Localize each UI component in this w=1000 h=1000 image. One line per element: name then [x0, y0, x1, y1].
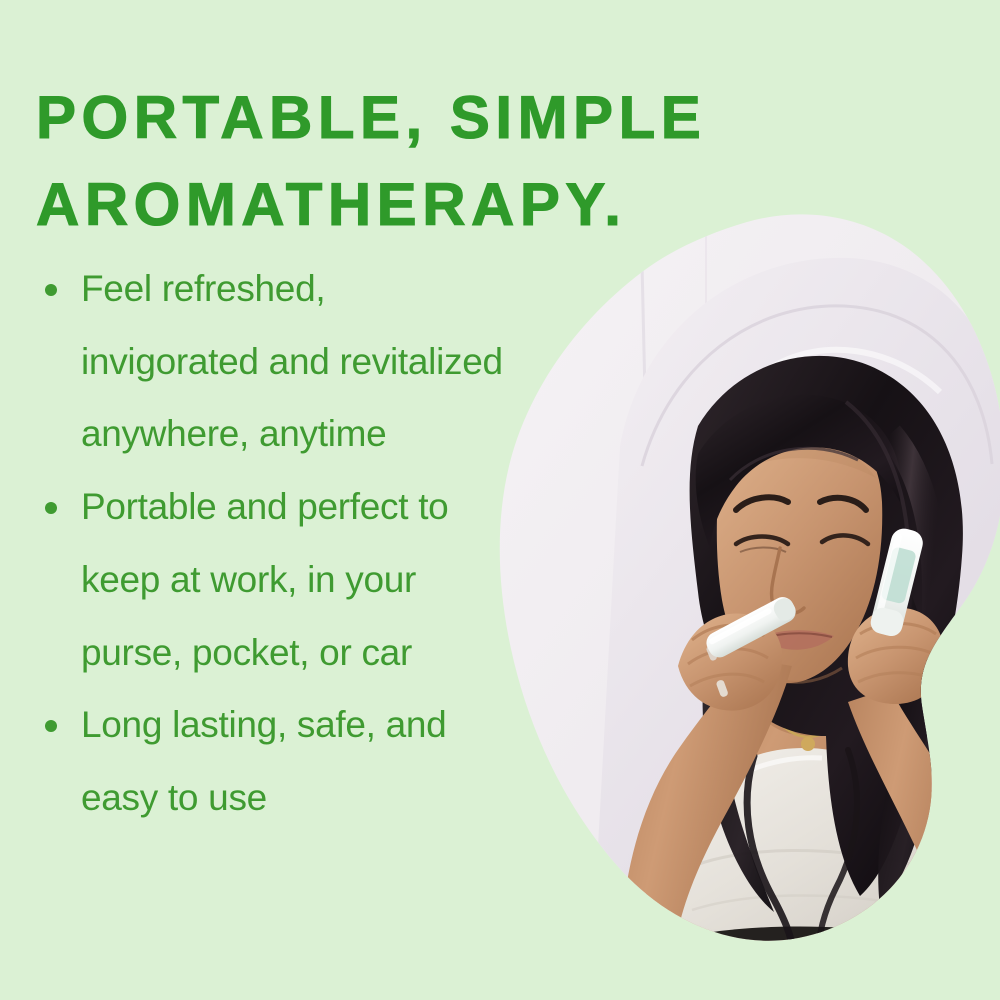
- photo-vignette: [452, 156, 1000, 1000]
- bullet-dot-icon: [45, 284, 57, 296]
- jeans-highlight: [900, 912, 998, 926]
- infographic-canvas: Portable, Simple Aromatherapy. Feel refr…: [0, 0, 1000, 1000]
- list-item-label: Portable and perfect to keep at work, in…: [81, 471, 506, 689]
- list-item-label: Feel refreshed, invigorated and revitali…: [81, 253, 506, 471]
- bullet-dot-icon: [45, 502, 57, 514]
- list-item: Feel refreshed, invigorated and revitali…: [36, 253, 506, 471]
- jeans: [878, 898, 1000, 976]
- bullet-dot-icon: [45, 720, 57, 732]
- list-item: Portable and perfect to keep at work, in…: [36, 471, 506, 689]
- list-item: Long lasting, safe, and easy to use: [36, 689, 506, 834]
- list-item-label: Long lasting, safe, and easy to use: [81, 689, 506, 834]
- product-photo: [492, 196, 1000, 956]
- benefits-list: Feel refreshed, invigorated and revitali…: [36, 253, 506, 835]
- photo-contents: [452, 156, 1000, 1000]
